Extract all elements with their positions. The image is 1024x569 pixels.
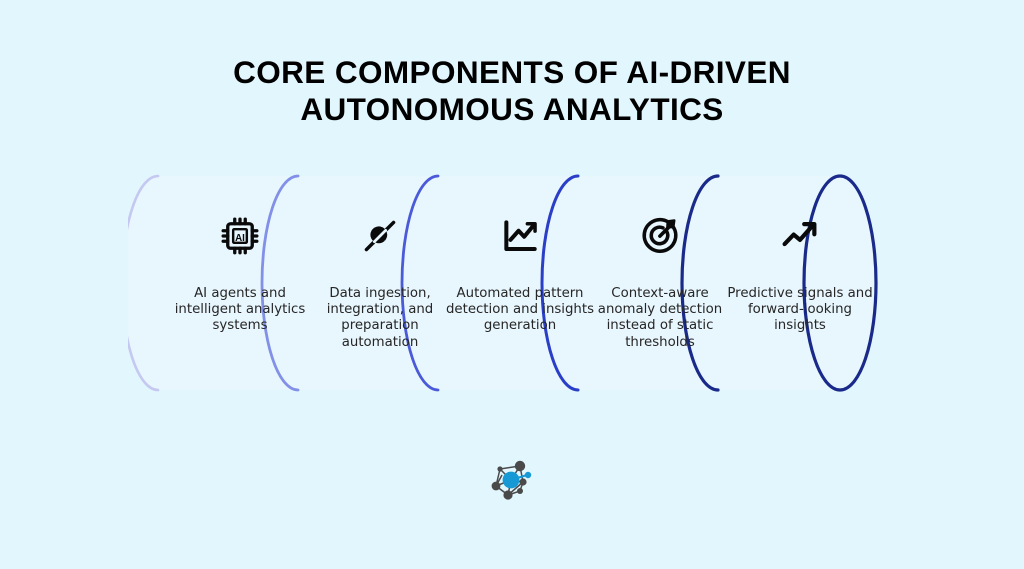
segment-caption: Predictive signals and forward-looking i… bbox=[724, 286, 876, 335]
cylinder-segment-5[interactable]: Predictive signals and forward-looking i… bbox=[730, 168, 870, 403]
page-title-line-2: AUTONOMOUS ANALYTICS bbox=[0, 91, 1024, 128]
plug-connector-icon bbox=[310, 210, 450, 262]
logo-accent-node bbox=[525, 472, 531, 478]
ai-chip-icon: AI bbox=[170, 210, 310, 262]
svg-text:AI: AI bbox=[235, 233, 245, 244]
logo-node bbox=[517, 488, 523, 494]
segment-caption: Data ingestion, integration, and prepara… bbox=[304, 286, 456, 351]
logo-node bbox=[515, 461, 525, 471]
cylinder-segment-4[interactable]: Context-aware anomaly detection instead … bbox=[590, 168, 730, 403]
trending-up-arrow-icon bbox=[730, 210, 870, 262]
line-chart-icon bbox=[450, 210, 590, 262]
segments-layer: AI AI agents and intelligent analytics s… bbox=[128, 168, 908, 403]
page-title: CORE COMPONENTS OF AI-DRIVEN AUTONOMOUS … bbox=[0, 54, 1024, 128]
logo-node bbox=[519, 478, 526, 485]
page-title-line-1: CORE COMPONENTS OF AI-DRIVEN bbox=[0, 54, 1024, 91]
cylinder-segment-1[interactable]: AI AI agents and intelligent analytics s… bbox=[170, 168, 310, 403]
logo-node bbox=[503, 490, 512, 499]
logo-node bbox=[497, 466, 502, 471]
segment-caption: Automated pattern detection and insights… bbox=[444, 286, 596, 335]
cylinder-segment-3[interactable]: Automated pattern detection and insights… bbox=[450, 168, 590, 403]
segment-caption: Context-aware anomaly detection instead … bbox=[584, 286, 736, 351]
logo-node bbox=[492, 482, 501, 491]
network-nodes-logo bbox=[484, 453, 540, 509]
cylinder-segment-2[interactable]: Data ingestion, integration, and prepara… bbox=[310, 168, 450, 403]
cylinder-process-diagram: AI AI agents and intelligent analytics s… bbox=[128, 168, 908, 403]
target-dart-icon bbox=[590, 210, 730, 262]
segment-caption: AI agents and intelligent analytics syst… bbox=[164, 286, 316, 335]
